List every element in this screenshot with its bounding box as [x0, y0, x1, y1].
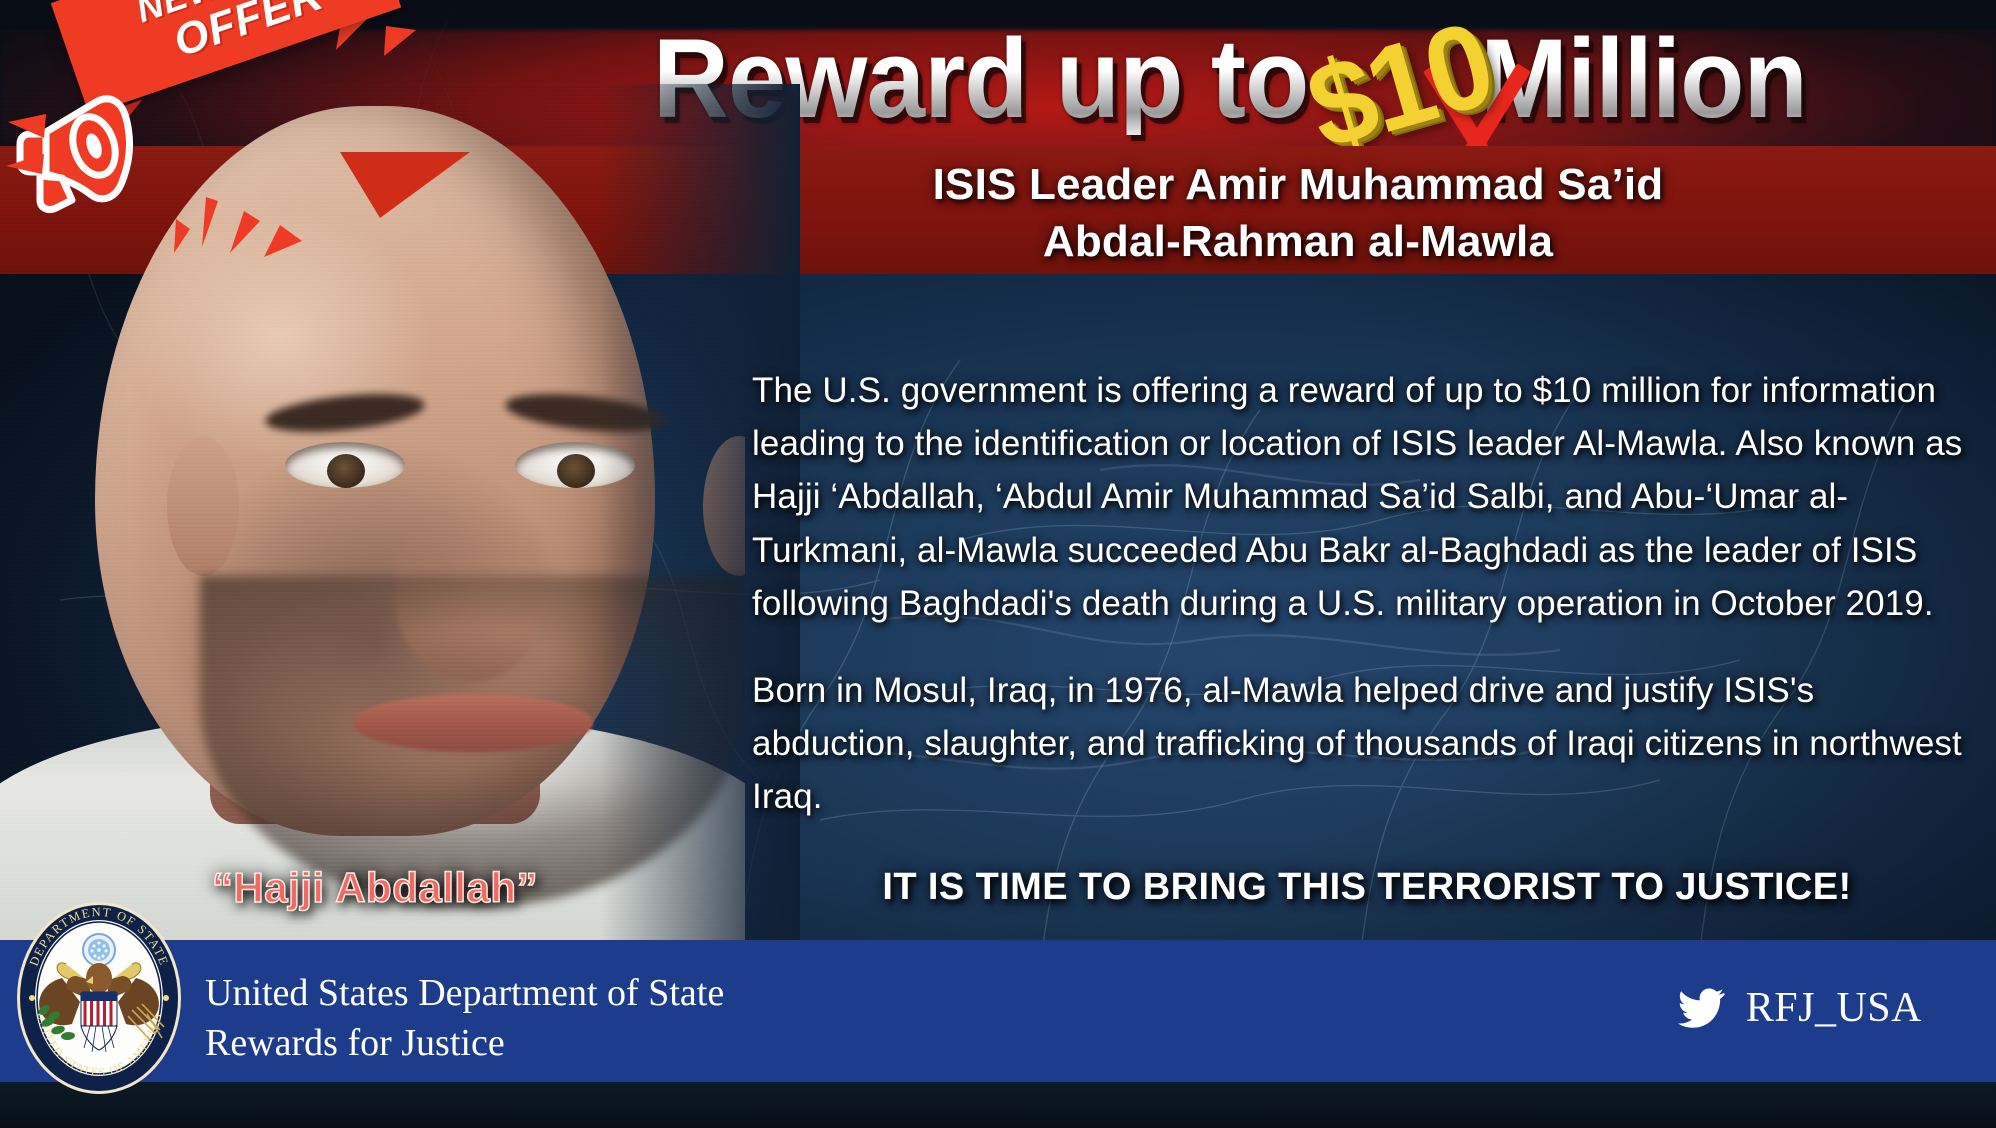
alias-caption: “Hajji Abdallah”: [140, 864, 610, 912]
body-paragraph-2: Born in Mosul, Iraq, in 1976, al-Mawla h…: [752, 664, 1982, 824]
ribbon-fold-icon: [340, 152, 480, 242]
agency-line-2: Rewards for Justice: [205, 1019, 724, 1068]
agency-name: United States Department of State Reward…: [205, 969, 724, 1068]
new-offer-badge: NEW OFFER: [0, 0, 420, 280]
reward-poster: Reward up to $5 Million $10 ISIS Leader …: [0, 0, 1996, 1128]
spark-bottom-icon: [160, 195, 350, 295]
call-to-action: IT IS TIME TO BRING THIS TERRORIST TO JU…: [752, 866, 1982, 909]
footer-bottom-strip: [0, 1082, 1996, 1128]
twitter-link[interactable]: RFJ_USA: [1672, 984, 1922, 1032]
agency-line-1: United States Department of State: [205, 969, 724, 1018]
subtitle-line-2: Abdal-Rahman al-Mawla: [600, 213, 1996, 270]
spark-left-icon: [0, 110, 70, 190]
body-paragraph-1: The U.S. government is offering a reward…: [752, 364, 1982, 630]
twitter-handle: RFJ_USA: [1746, 984, 1922, 1032]
headline-text: Reward up to $5 Million: [653, 23, 1807, 135]
headline-suffix: Million: [1452, 16, 1807, 141]
subtitle-line-1: ISIS Leader Amir Muhammad Sa’id: [933, 160, 1664, 209]
twitter-bird-icon: [1672, 984, 1728, 1032]
body-copy: The U.S. government is offering a reward…: [752, 364, 1982, 858]
subtitle: ISIS Leader Amir Muhammad Sa’id Abdal-Ra…: [600, 156, 1996, 270]
department-of-state-seal: DEPARTMENT OF STATE UNITED STATES OF AME…: [10, 898, 188, 1098]
